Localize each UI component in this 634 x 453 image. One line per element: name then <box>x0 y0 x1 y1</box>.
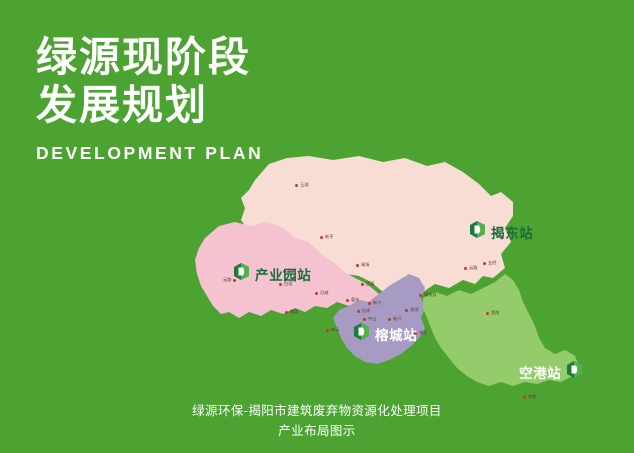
station-marker-konggang[interactable]: 空港站 <box>519 360 583 384</box>
station-label: 揭东站 <box>491 222 533 242</box>
page-title-line-2: 发展规划 <box>36 82 396 130</box>
station-label: 产业园站 <box>255 264 311 284</box>
station-marker-rongcheng[interactable]: 榕城站 <box>353 322 417 346</box>
station-label: 空港站 <box>519 362 561 382</box>
poster-root: 绿源现阶段 发展规划 DEVELOPMENT PLAN 揭东站 <box>0 0 634 453</box>
city-dot-icon <box>523 396 526 399</box>
green-cube-logo-icon <box>566 360 583 384</box>
station-marker-jiedong[interactable]: 揭东站 <box>469 220 533 244</box>
station-label: 榕城站 <box>375 324 417 344</box>
caption-line-1: 绿源环保-揭阳市建筑废弃物资源化处理项目 <box>0 402 634 421</box>
green-cube-logo-icon <box>233 262 250 286</box>
green-cube-logo-icon <box>353 322 370 346</box>
map-container: 揭东站 产业园站 榕城站 <box>183 150 583 395</box>
caption-line-2: 产业布局图示 <box>0 422 634 441</box>
green-cube-logo-icon <box>469 220 486 244</box>
title-block: 绿源现阶段 发展规划 DEVELOPMENT PLAN <box>36 34 396 164</box>
caption-block: 绿源环保-揭阳市建筑废弃物资源化处理项目 产业布局图示 <box>0 402 634 441</box>
station-marker-chanyeyuan[interactable]: 产业园站 <box>233 262 311 286</box>
page-title-line-1: 绿源现阶段 <box>36 34 396 82</box>
page-subtitle-english: DEVELOPMENT PLAN <box>36 143 396 164</box>
